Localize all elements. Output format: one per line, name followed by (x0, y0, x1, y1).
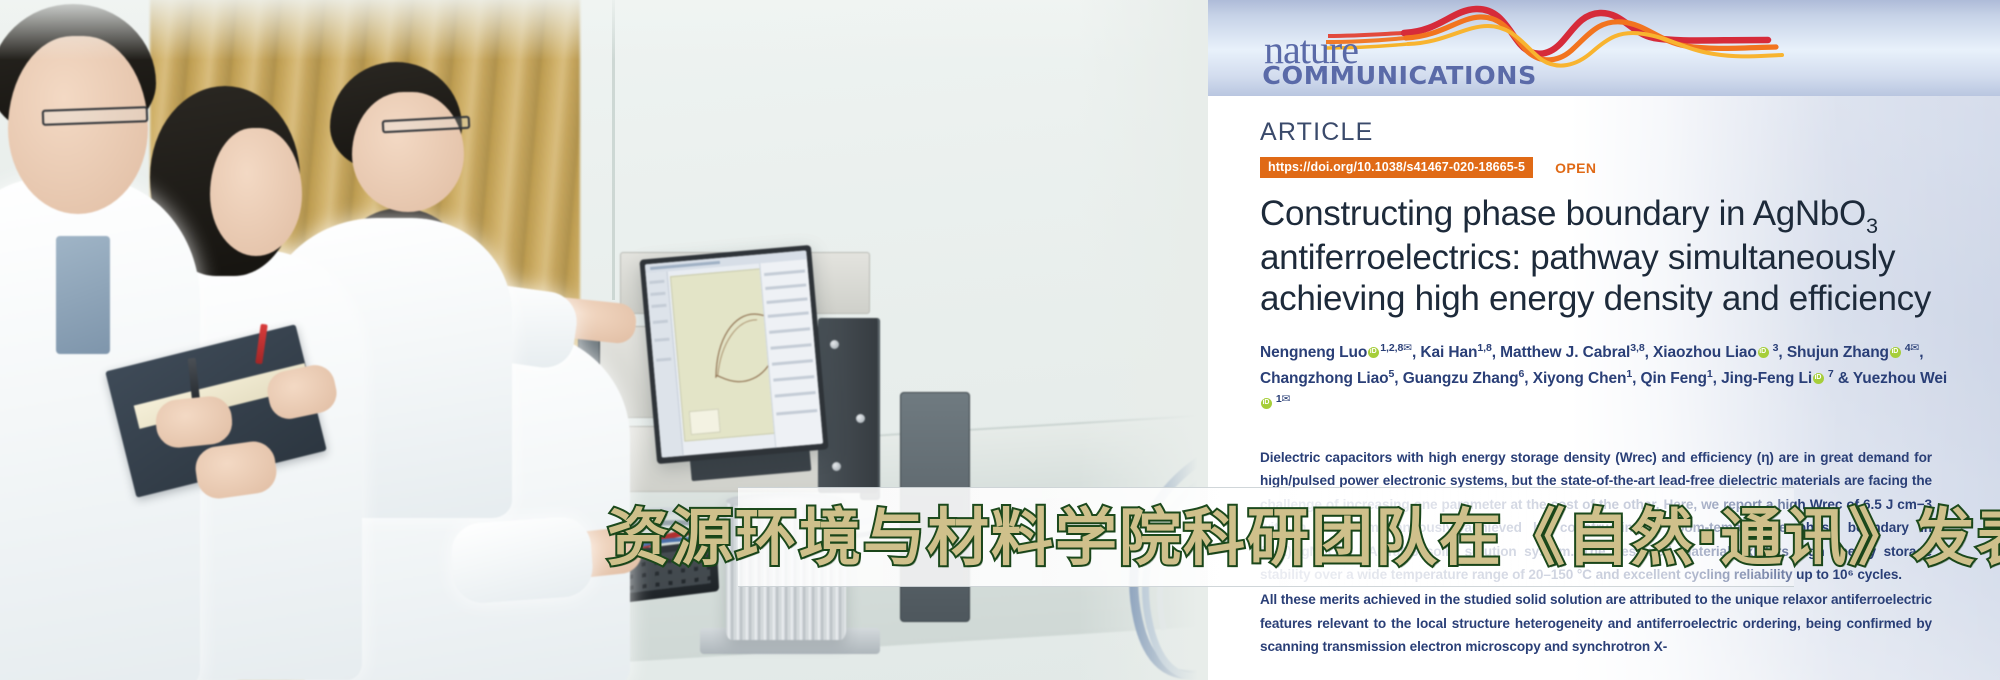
author-name[interactable]: Guangzu Zhang (1403, 370, 1519, 387)
orcid-icon[interactable] (1890, 347, 1901, 358)
arm-bolt-b (856, 414, 865, 423)
monitor-screen (645, 250, 823, 457)
author-affil: 4 (1902, 342, 1911, 354)
author-affil: 5 (1389, 368, 1395, 380)
author-name[interactable]: Matthew J. Cabral (1500, 344, 1630, 361)
person-left-face (8, 36, 148, 214)
corresponding-envelope-icon: ✉ (1403, 342, 1412, 354)
author-name[interactable]: Kai Han (1420, 344, 1477, 361)
masthead-wordmark: nature COMMUNICATIONS (1264, 0, 1784, 96)
author-name[interactable]: Xiaozhou Liao (1653, 344, 1757, 361)
article-type-kicker: ARTICLE (1260, 118, 1960, 147)
person-left-shirt-collar (56, 236, 110, 354)
article-title: Constructing phase boundary in AgNbO3 an… (1260, 194, 1960, 320)
corresponding-envelope-icon: ✉ (1911, 342, 1920, 354)
arm-bolt-a (830, 340, 839, 349)
author-affil: 7 (1825, 368, 1834, 380)
nature-communications-masthead: nature COMMUNICATIONS (1208, 0, 2000, 96)
news-banner-stage: nature COMMUNICATIONS ARTICLE https://do… (0, 0, 2000, 680)
author-affil: 1 (1707, 368, 1713, 380)
orcid-icon[interactable] (1368, 347, 1379, 358)
author-name[interactable]: Shujun Zhang (1787, 344, 1889, 361)
author-affil: 3,8 (1630, 342, 1644, 354)
title-subscript-3: 3 (1866, 213, 1878, 238)
person-woman-face (210, 128, 302, 256)
person-senior-face (352, 92, 464, 212)
title-line-2: antiferroelectrics: pathway simultaneous… (1260, 238, 1895, 277)
seated-lower-sleeve (449, 515, 594, 605)
title-line-1: Constructing phase boundary in AgNbO (1260, 194, 1866, 233)
headline-text-wrapper: 资源环境与材料学院科研团队在《自然·通讯》发表论文 (607, 492, 1867, 584)
author-name[interactable]: Yuezhou Wei (1853, 370, 1947, 387)
headline-chinese-text: 资源环境与材料学院科研团队在《自然·通讯》发表论文 (607, 507, 2000, 569)
title-line-3: achieving high energy density and effici… (1260, 279, 1931, 318)
monitor-arm (818, 318, 878, 493)
orcid-icon[interactable] (1813, 373, 1824, 384)
author-name[interactable]: Xiyong Chen (1533, 370, 1627, 387)
author-affil: 1,8 (1477, 342, 1491, 354)
corresponding-envelope-icon: ✉ (1282, 393, 1291, 405)
author-affil: 6 (1519, 368, 1525, 380)
open-access-tag: OPEN (1555, 160, 1596, 176)
doi-row: https://doi.org/10.1038/s41467-020-18665… (1260, 157, 1960, 178)
orcid-icon[interactable] (1758, 347, 1769, 358)
author-name[interactable]: Jing-Feng Li (1721, 370, 1812, 387)
photo-top-fade (0, 0, 1208, 60)
author-list: Nengneng Luo1,2,8✉, Kai Han1,8, Matthew … (1260, 340, 1950, 416)
author-name[interactable]: Qin Feng (1641, 370, 1707, 387)
author-affil: 1,2,8 (1380, 342, 1403, 354)
doi-badge[interactable]: https://doi.org/10.1038/s41467-020-18665… (1260, 157, 1533, 178)
author-affil: 1 (1273, 393, 1282, 405)
author-name[interactable]: Changzhong Liao (1260, 370, 1389, 387)
author-affil: 3 (1770, 342, 1779, 354)
arm-bolt-c (832, 462, 841, 471)
abstract-paragraph-2: All these merits achieved in the studied… (1260, 588, 1932, 658)
communications-wordmark: COMMUNICATIONS (1262, 63, 1537, 88)
computer-monitor (639, 245, 828, 464)
orcid-icon[interactable] (1261, 398, 1272, 409)
author-affil: 1 (1626, 368, 1632, 380)
hysteresis-loop-plot (670, 268, 776, 441)
author-name[interactable]: Nengneng Luo (1260, 344, 1367, 361)
